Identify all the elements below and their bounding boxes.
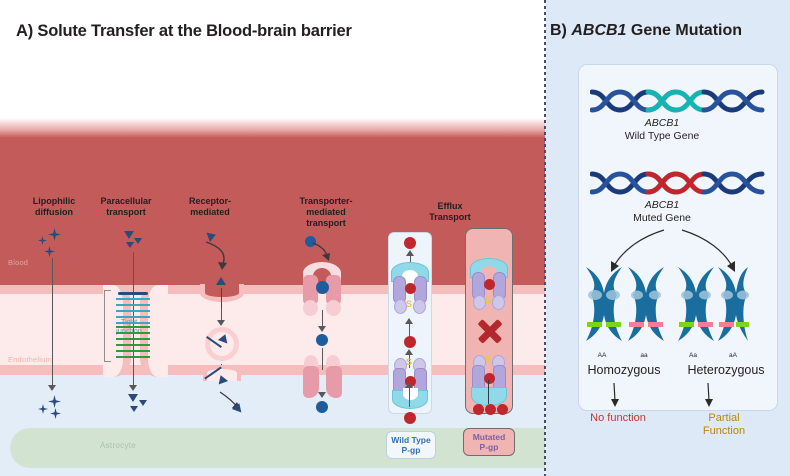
drug-circle <box>404 412 416 424</box>
drug-circle <box>404 336 416 348</box>
atp-icon: S <box>485 295 491 305</box>
pgp-nbd-right <box>413 299 426 314</box>
muted-gene-caption: ABCB1 Muted Gene <box>562 199 762 225</box>
dna-helix-wild-type <box>590 86 766 116</box>
panel-a-blood-brain-barrier: A) Solute Transfer at the Blood-brain ba… <box>0 0 545 476</box>
muted-gene-name: ABCB1 <box>645 199 679 211</box>
chromosome-group <box>582 265 750 349</box>
solute-triangle <box>126 242 134 248</box>
drug-circle <box>473 404 484 415</box>
panel-a-title: A) Solute Transfer at the Blood-brain ba… <box>16 22 352 41</box>
allele-label-aA: aA <box>714 352 752 359</box>
genotype-label-homozygous: Homozygous <box>574 363 674 377</box>
atp-icon: S <box>485 354 491 364</box>
drug-circle <box>497 404 508 415</box>
red-x-icon <box>476 316 504 344</box>
outcome-arrows <box>606 383 736 413</box>
receptor-stalk <box>221 288 222 310</box>
column-label-paracellular: Paracellular transport <box>88 196 164 218</box>
mutated-blocked-stalk <box>488 380 489 404</box>
wild-type-gene-name: ABCB1 <box>645 117 679 129</box>
genotype-label-heterozygous: Heterozygous <box>670 363 782 377</box>
drug-circle <box>485 404 496 415</box>
figure-root: A) Solute Transfer at the Blood-brain ba… <box>0 0 790 476</box>
wild-type-gene-caption-text: Wild Type Gene <box>625 130 700 142</box>
tight-junction-strand-cyan <box>116 298 150 324</box>
solute-circle <box>316 401 328 413</box>
efflux-uptake-arrow-head <box>405 382 413 388</box>
drug-circle <box>404 237 416 249</box>
transporter-arrow-head <box>318 326 326 332</box>
column-label-efflux-transport: Efflux Transport <box>415 201 485 223</box>
pgp-cavity <box>403 388 418 400</box>
dna-helix-muted <box>590 168 766 198</box>
lipophilic-arrow-line <box>52 258 53 386</box>
solute-triangle <box>139 400 147 406</box>
endothelium-compartment <box>0 294 545 367</box>
solute-triangle <box>124 231 134 239</box>
efflux-out-arrow-head <box>406 250 414 256</box>
column-label-receptor-mediated: Receptor- mediated <box>172 196 248 218</box>
mutated-pgp-tag: Mutated P-gp <box>463 428 515 456</box>
efflux-arrow-head <box>405 318 413 324</box>
column-label-lipophilic: Lipophilic diffusion <box>16 196 92 218</box>
tight-junction-claudin-bar <box>118 292 148 295</box>
ligand-release-arrow <box>216 388 250 416</box>
allele-label-aa: aa <box>624 352 664 359</box>
muted-gene-caption-text: Muted Gene <box>633 212 691 224</box>
receptor-arrow-head <box>217 320 225 326</box>
wild-type-pgp-tag: Wild Type P-gp <box>386 431 436 459</box>
astrocyte-label: Astrocyte <box>100 441 136 450</box>
endothelium-label: Endothelium <box>8 355 52 364</box>
atp-icon: S <box>406 299 412 309</box>
solute-triangle <box>130 406 138 412</box>
transporter-release-arrow-head <box>318 392 326 398</box>
panel-b-title-suffix: Gene Mutation <box>626 22 742 39</box>
transporter-arrow-line <box>322 348 323 370</box>
transporter-lobe-left <box>303 366 319 398</box>
transporter-foot-right <box>326 300 341 316</box>
outcome-partial-function: Partial Function <box>674 412 774 438</box>
solute-triangle <box>128 394 138 402</box>
ligand-triangle <box>216 277 226 285</box>
allele-label-Aa: Aa <box>674 352 712 359</box>
wild-type-gene-caption: ABCB1 Wild Type Gene <box>562 117 762 143</box>
lipophilic-arrow-head <box>48 385 56 391</box>
drug-circle <box>405 283 416 294</box>
solute-circle <box>316 281 329 294</box>
drug-circle <box>484 279 495 290</box>
paracellular-arrow-head <box>129 385 137 391</box>
solute-triangle <box>134 238 142 244</box>
outcome-no-function: No function <box>568 412 668 425</box>
tight-junction-bracket <box>104 290 111 362</box>
panel-b-title-prefix: B) <box>550 22 571 39</box>
pgp-nbd-right <box>492 295 505 310</box>
atp-icon: S <box>406 357 412 367</box>
receptor-binding-arrow <box>200 236 244 276</box>
panel-b-title: B) ABCB1 Gene Mutation <box>550 22 742 40</box>
blood-gradient-fade <box>0 118 545 138</box>
drug-circle <box>484 373 495 384</box>
allele-label-AA: AA <box>582 352 622 359</box>
efflux-uptake-arrow-line <box>409 385 410 407</box>
panel-b-abcb1-gene-mutation: B) ABCB1 Gene Mutation ABCB1 Wild Type G… <box>546 0 790 476</box>
transporter-lobe-right <box>326 366 342 398</box>
efflux-arrow-head <box>405 349 413 355</box>
solute-circle <box>316 334 328 346</box>
tight-junction-strand-green <box>116 326 150 360</box>
column-label-transporter-mediated: Transporter- mediated transport <box>285 196 367 229</box>
blood-label: Blood <box>8 258 28 267</box>
transporter-foot-left <box>303 300 318 316</box>
panel-b-title-gene: ABCB1 <box>571 22 626 39</box>
